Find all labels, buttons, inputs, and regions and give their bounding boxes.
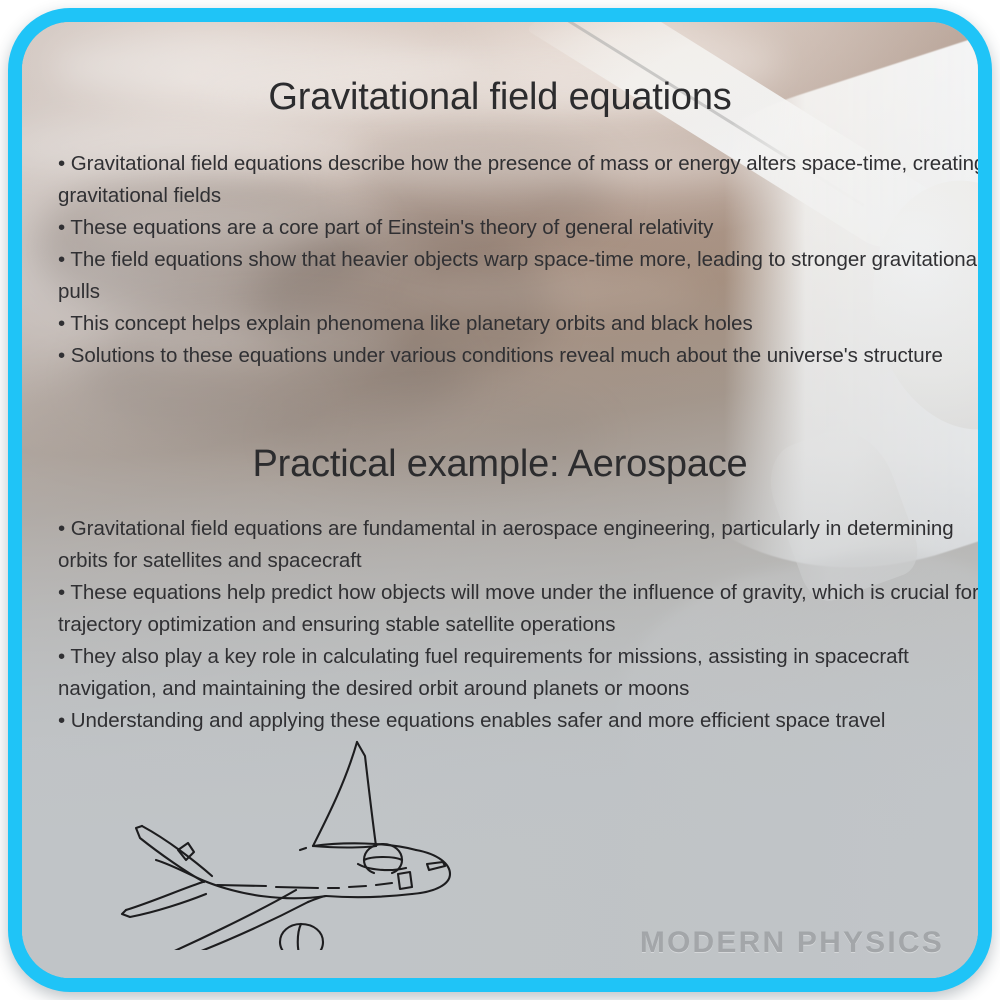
section-2-bullet-list: • Gravitational field equations are fund… (58, 513, 978, 737)
bullet-item: • Gravitational field equations are fund… (58, 513, 978, 577)
bullet-item: • This concept helps explain phenomena l… (58, 308, 978, 340)
bullet-item: • The field equations show that heavier … (58, 244, 978, 308)
slide-card-frame: Gravitational field equations • Gravitat… (8, 8, 992, 992)
section-1-heading: Gravitational field equations (22, 76, 978, 119)
section-2-heading: Practical example: Aerospace (22, 443, 978, 486)
watermark-modern-physics: MODERN PHYSICS (640, 926, 944, 960)
airliner-line-drawing-icon (100, 730, 470, 950)
slide-content: Gravitational field equations • Gravitat… (22, 22, 978, 978)
bullet-item: • Solutions to these equations under var… (58, 340, 978, 372)
bullet-item: • These equations help predict how objec… (58, 577, 978, 641)
bullet-item: • These equations are a core part of Ein… (58, 212, 978, 244)
slide-card-inner: Gravitational field equations • Gravitat… (22, 22, 978, 978)
bullet-item: • They also play a key role in calculati… (58, 641, 978, 705)
bullet-item: • Gravitational field equations describe… (58, 148, 978, 212)
slide-root: Gravitational field equations • Gravitat… (0, 0, 1000, 1000)
section-1-bullet-list: • Gravitational field equations describe… (58, 148, 978, 372)
